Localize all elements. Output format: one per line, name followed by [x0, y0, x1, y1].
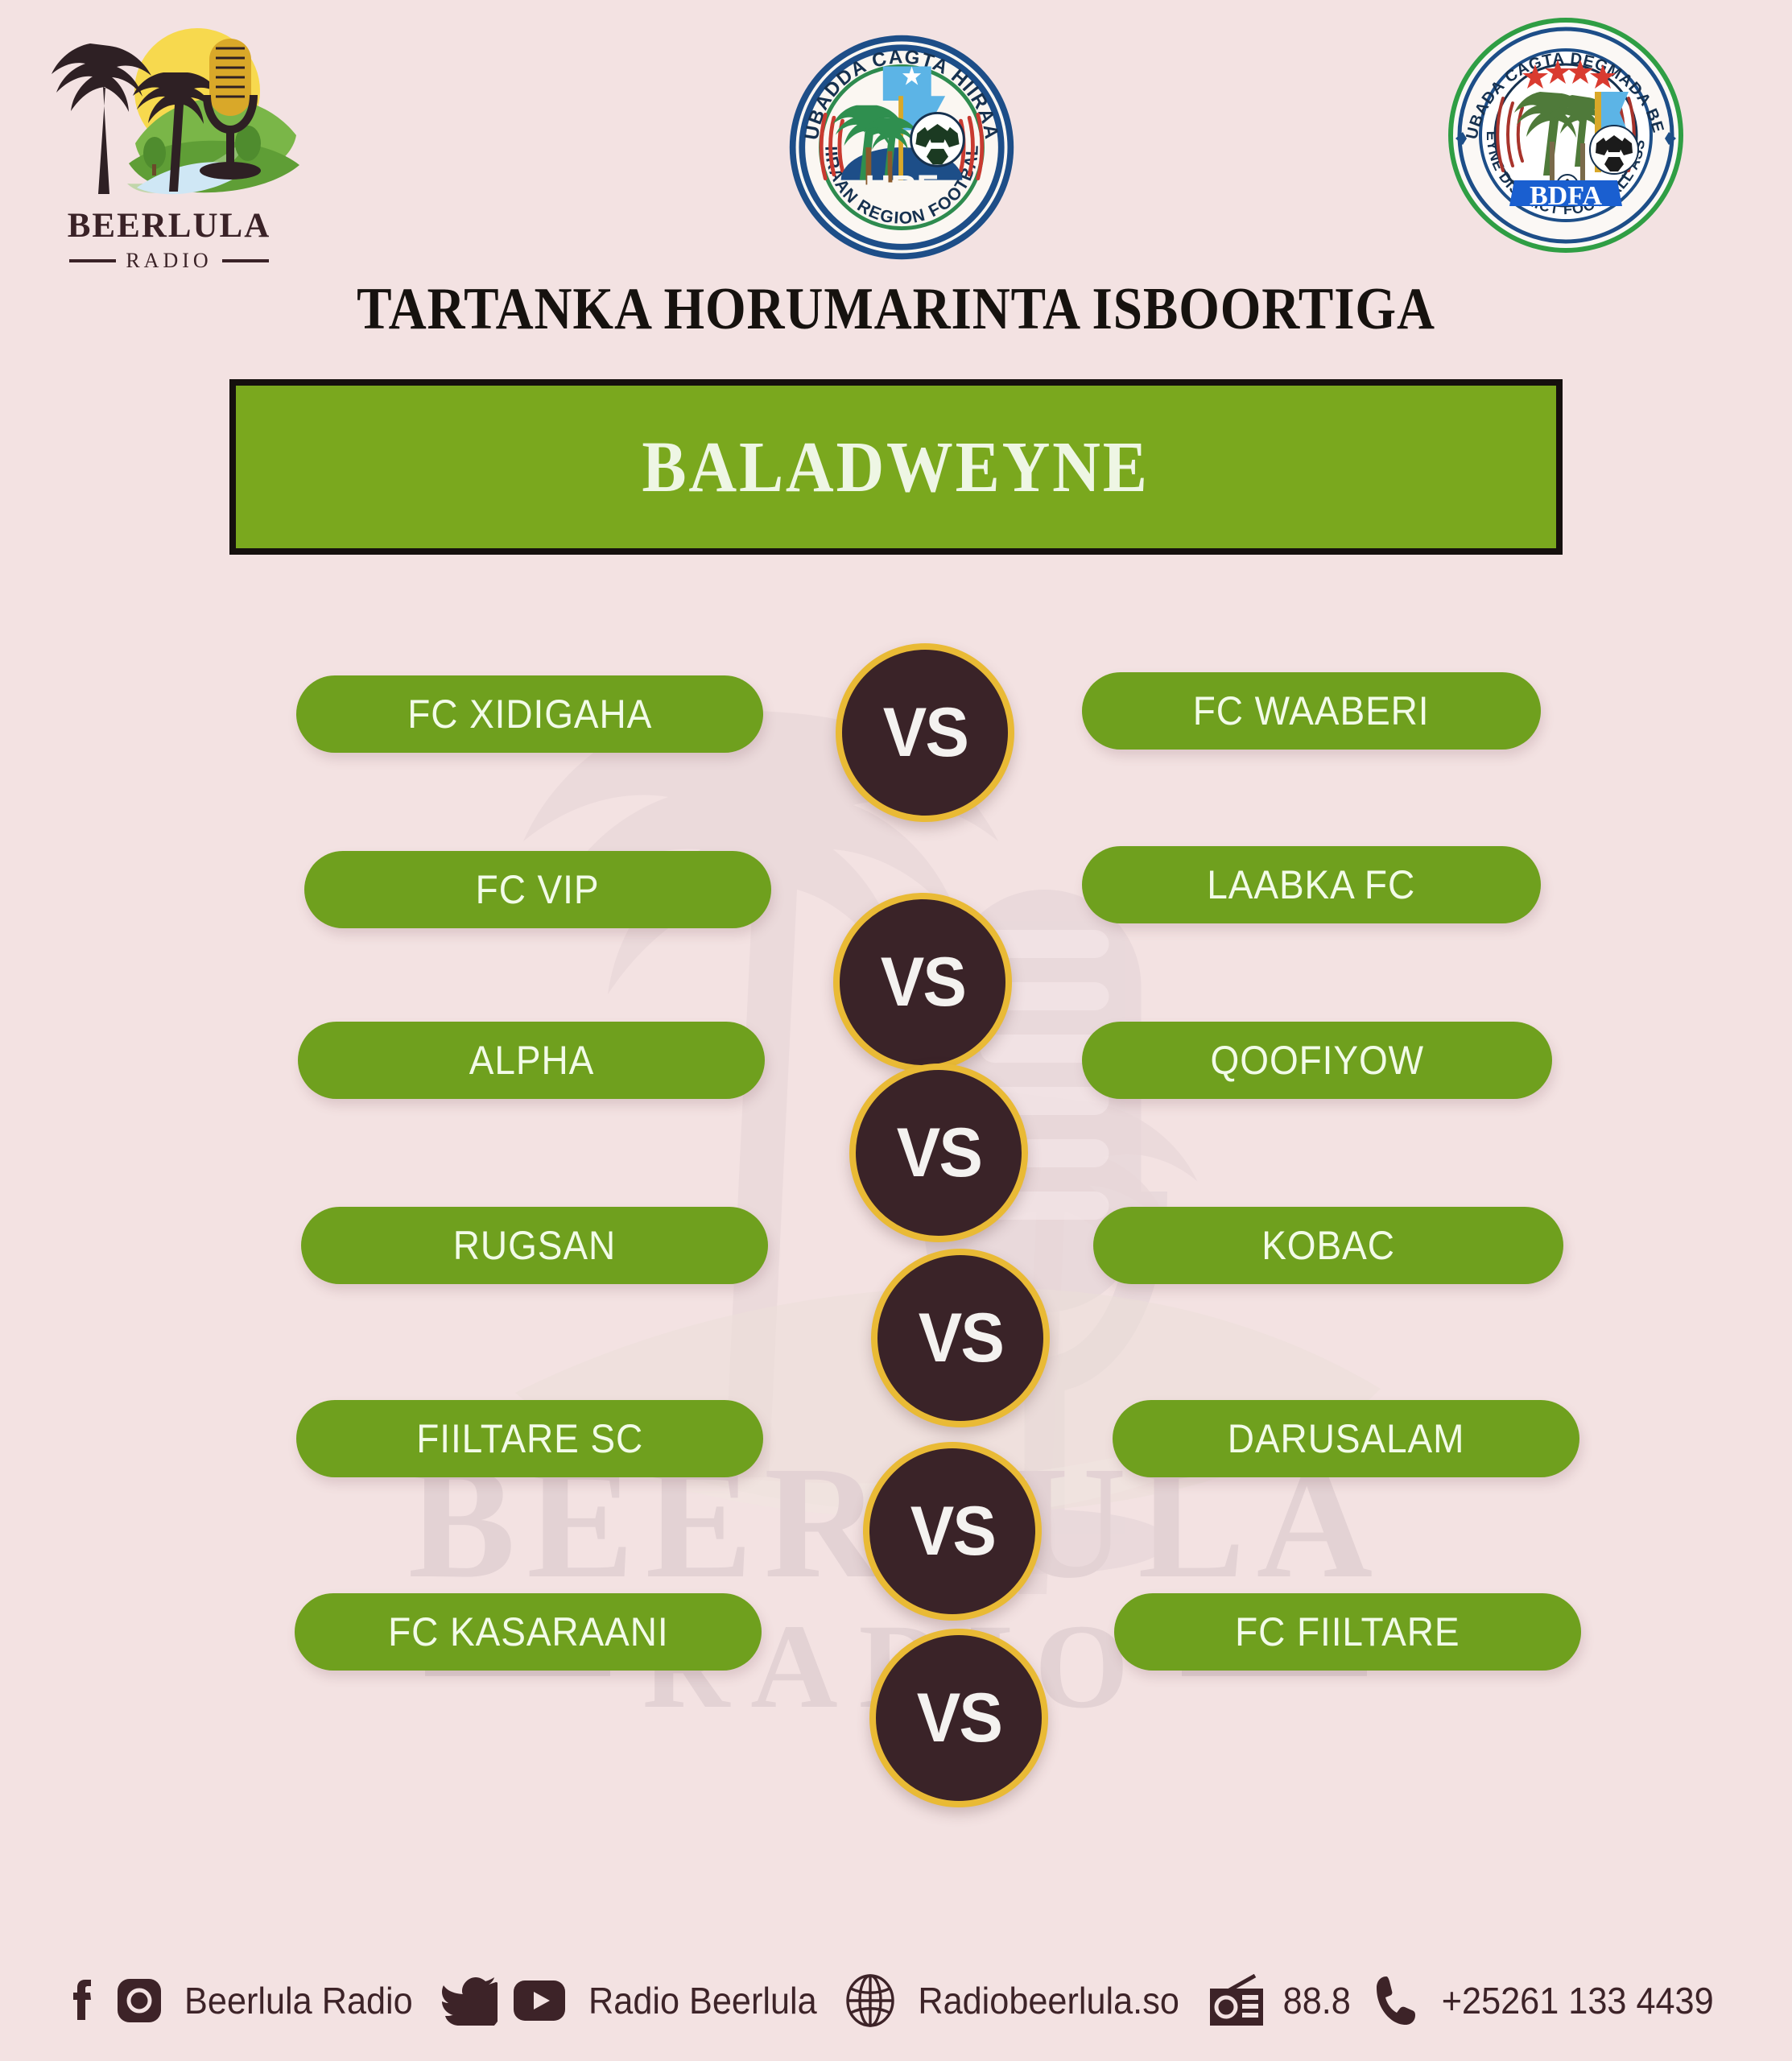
beerlula-radio-logo: BEERLULA RADIO: [32, 14, 306, 280]
away-team-pill[interactable]: FC WAABERI: [1082, 672, 1541, 750]
page-title: TARTANKA HORUMARINTA ISBOORTIGA: [108, 275, 1685, 344]
away-team-label: QOOFIYOW: [1210, 1037, 1423, 1084]
home-team-pill[interactable]: FC KASARAANI: [295, 1593, 762, 1671]
globe-icon[interactable]: [845, 1974, 895, 2027]
beerlula-rule-left: [69, 259, 116, 262]
youtube-icon[interactable]: [512, 1979, 567, 2022]
home-team-label: RUGSAN: [453, 1222, 616, 1269]
facebook-instagram-group[interactable]: Beerlula Radio: [69, 1975, 420, 2026]
home-team-label: FC VIP: [476, 866, 600, 913]
twitter-youtube-handle: Radio Beerlula: [588, 1979, 817, 2022]
header-logos: BEERLULA RADIO KUBADDA CAGTA HIIRAAN HII…: [0, 0, 1792, 266]
website-group[interactable]: Radiobeerlula.so: [845, 1974, 1187, 2027]
away-team-label: KOBAC: [1261, 1222, 1395, 1269]
footer-contact-bar: Beerlula Radio Radio Beerlula: [0, 1956, 1792, 2045]
facebook-instagram-handle: Beerlula Radio: [184, 1979, 413, 2022]
away-team-pill[interactable]: KOBAC: [1093, 1207, 1563, 1284]
vs-label: VS: [910, 1492, 994, 1572]
beerlula-wordmark: BEERLULA RADIO: [32, 206, 306, 273]
away-team-label: FC WAABERI: [1193, 688, 1430, 734]
vs-label: VS: [918, 1299, 1002, 1378]
twitter-youtube-group[interactable]: Radio Beerlula: [441, 1976, 824, 2026]
vs-label: VS: [880, 943, 964, 1022]
vs-badge: VS: [833, 893, 1012, 1072]
vs-label: VS: [882, 693, 967, 773]
fixtures-list: FC XIDIGAHA VS FC WAABERI FC VIP VS LAAB…: [0, 675, 1792, 1786]
vs-badge: VS: [871, 1249, 1050, 1427]
phone-icon[interactable]: [1373, 1974, 1418, 2027]
vs-badge: VS: [869, 1629, 1048, 1807]
away-team-label: FC FIILTARE: [1235, 1609, 1460, 1655]
radio-icon: [1208, 1974, 1266, 2027]
frequency-label: 88.8: [1283, 1979, 1351, 2022]
frequency-group: 88.8: [1208, 1974, 1353, 2027]
beerlula-name-line2: RADIO: [126, 249, 212, 273]
vs-badge: VS: [863, 1442, 1042, 1621]
website-label: Radiobeerlula.so: [918, 1979, 1179, 2022]
away-team-pill[interactable]: LAABKA FC: [1082, 846, 1541, 923]
city-banner-label: BALADWEYNE: [642, 426, 1150, 509]
home-team-pill[interactable]: ALPHA: [298, 1022, 765, 1099]
home-team-label: FC XIDIGAHA: [407, 691, 652, 737]
home-team-label: FC KASARAANI: [388, 1609, 668, 1655]
instagram-icon[interactable]: [116, 1977, 163, 2024]
home-team-pill[interactable]: FC VIP: [304, 851, 771, 928]
away-team-label: LAABKA FC: [1208, 861, 1416, 908]
beerlula-rule-right: [222, 259, 269, 262]
away-team-pill[interactable]: FC FIILTARE: [1114, 1593, 1581, 1671]
vs-badge: VS: [849, 1064, 1028, 1242]
vs-label: VS: [916, 1679, 1001, 1758]
palm-microphone-icon: [32, 14, 306, 216]
beerlula-name-line1: BEERLULA: [32, 206, 306, 246]
vs-badge: VS: [836, 643, 1014, 822]
hrf-logo: KUBADDA CAGTA HIIRAAN HIIRAAN REGION FOO…: [773, 31, 1030, 264]
city-banner: BALADWEYNE: [229, 379, 1563, 555]
facebook-icon[interactable]: [69, 1975, 101, 2026]
home-team-pill[interactable]: FC XIDIGAHA: [296, 675, 763, 753]
bdfa-logo: URURKA KUBADA CAGTA DEGMADA BELEDWEYNE B…: [1441, 14, 1691, 256]
svg-text:HRF: HRF: [865, 169, 938, 209]
away-team-label: DARUSALAM: [1228, 1415, 1465, 1462]
away-team-pill[interactable]: QOOFIYOW: [1082, 1022, 1552, 1099]
home-team-pill[interactable]: FIILTARE SC: [296, 1400, 763, 1477]
away-team-pill[interactable]: DARUSALAM: [1113, 1400, 1579, 1477]
phone-number: +25261 133 4439: [1442, 1979, 1714, 2022]
home-team-label: FIILTARE SC: [416, 1415, 643, 1462]
home-team-label: ALPHA: [469, 1037, 593, 1084]
twitter-icon[interactable]: [441, 1976, 498, 2026]
phone-group[interactable]: +25261 133 4439: [1373, 1974, 1722, 2027]
svg-text:BDFA: BDFA: [1530, 181, 1602, 211]
vs-label: VS: [896, 1113, 981, 1193]
home-team-pill[interactable]: RUGSAN: [301, 1207, 768, 1284]
